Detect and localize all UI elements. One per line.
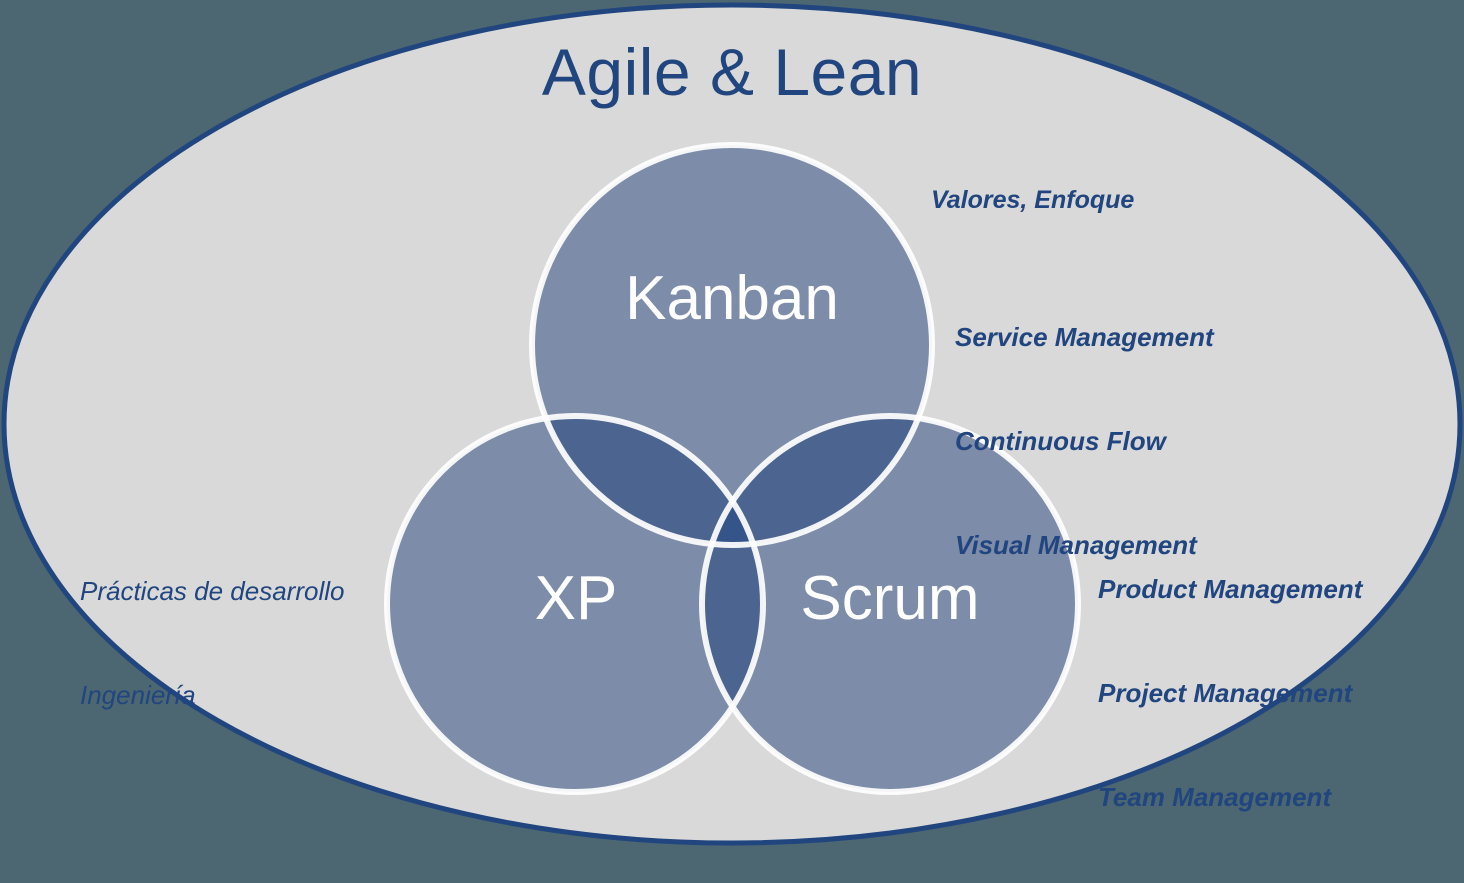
scrum-annotation: Product Management Project Management Te… (1098, 503, 1362, 883)
annotation-line: Valores, Enfoque (931, 184, 1134, 217)
annotation-line: Ingeniería (80, 678, 344, 713)
annotation-line: Team Management (1098, 780, 1362, 815)
annotation-line: Project Management (1098, 676, 1362, 711)
xp-annotation: Prácticas de desarrollo Ingeniería (80, 505, 344, 782)
annotation-line: Prácticas de desarrollo (80, 574, 344, 609)
page-title: Agile & Lean (0, 38, 1464, 107)
venn-diagram: Agile & Lean Valores, Enfoque Service Ma… (0, 0, 1464, 852)
annotation-line: Product Management (1098, 572, 1362, 607)
annotation-line: Continuous Flow (955, 424, 1214, 459)
kanban-circle-label: Kanban (532, 268, 932, 330)
scrum-circle-label: Scrum (702, 568, 1078, 630)
annotation-line: Service Management (955, 320, 1214, 355)
